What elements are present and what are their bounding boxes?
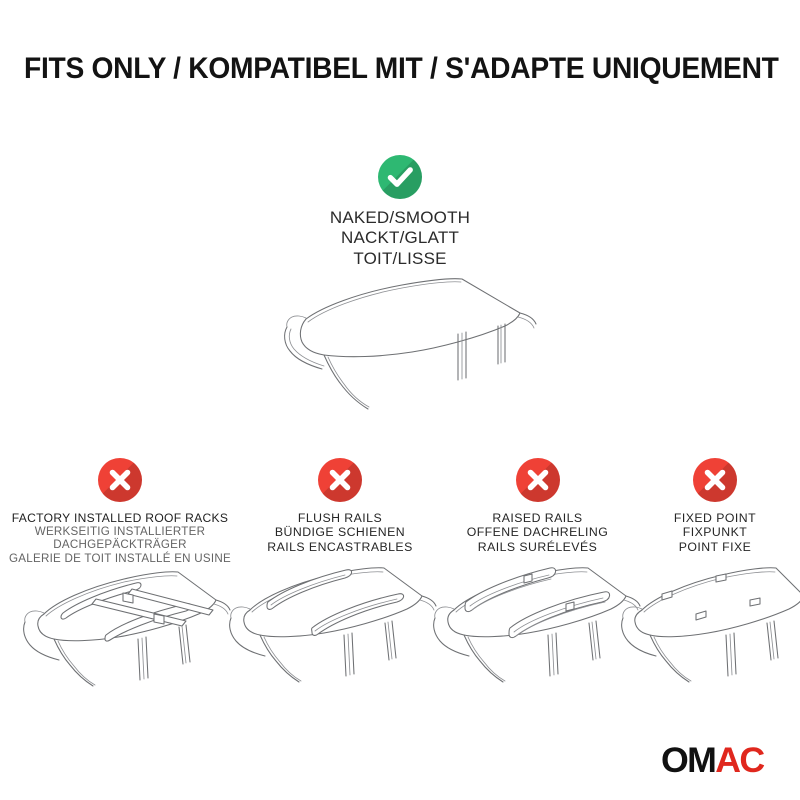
omac-logo: OMAC xyxy=(661,743,764,778)
infographic-canvas: FITS ONLY / KOMPATIBEL MIT / S'ADAPTE UN… xyxy=(0,0,800,800)
cross-badge xyxy=(318,458,362,502)
car-roof-naked-smooth-illustration xyxy=(262,272,562,417)
label-line-2: FIXPUNKT xyxy=(630,525,800,539)
label-line-3: DACHGEPÄCKTRÄGER xyxy=(0,538,240,551)
cross-badge xyxy=(516,458,560,502)
option-flush-rails: FLUSH RAILS BÜNDIGE SCHIENEN RAILS ENCAS… xyxy=(240,458,440,554)
check-icon xyxy=(378,155,422,199)
car-roof-flush-rails-illustration xyxy=(216,552,436,692)
cross-icon xyxy=(318,458,362,502)
label-line-1: FACTORY INSTALLED ROOF RACKS xyxy=(0,511,240,525)
option-labels: FLUSH RAILS BÜNDIGE SCHIENEN RAILS ENCAS… xyxy=(240,511,440,554)
car-roof-raised-rails-illustration xyxy=(418,548,638,693)
option-labels: NAKED/SMOOTH NACKT/GLATT TOIT/LISSE xyxy=(260,208,540,269)
label-line-2: OFFENE DACHRELING xyxy=(435,525,640,539)
label-line-2: NACKT/GLATT xyxy=(260,228,540,248)
check-badge xyxy=(378,155,422,199)
cross-badge xyxy=(98,458,142,502)
cross-badge xyxy=(693,458,737,502)
logo-text-om: OM xyxy=(661,741,715,780)
option-fixed-point: FIXED POINT FIXPUNKT POINT FIXE xyxy=(630,458,800,554)
car-roof-fixed-point-illustration xyxy=(612,548,800,693)
label-line-2: BÜNDIGE SCHIENEN xyxy=(240,525,440,539)
label-line-1: RAISED RAILS xyxy=(435,511,640,525)
label-line-1: FLUSH RAILS xyxy=(240,511,440,525)
page-title: FITS ONLY / KOMPATIBEL MIT / S'ADAPTE UN… xyxy=(24,52,776,86)
car-roof-factory-rack-illustration xyxy=(6,552,236,692)
cross-icon xyxy=(516,458,560,502)
cross-icon xyxy=(693,458,737,502)
option-raised-rails: RAISED RAILS OFFENE DACHRELING RAILS SUR… xyxy=(435,458,640,554)
cross-icon xyxy=(98,458,142,502)
label-line-1: FIXED POINT xyxy=(630,511,800,525)
label-line-2: WERKSEITIG INSTALLIERTER xyxy=(0,525,240,538)
label-line-1: NAKED/SMOOTH xyxy=(260,208,540,228)
option-naked-smooth: NAKED/SMOOTH NACKT/GLATT TOIT/LISSE xyxy=(260,155,540,269)
label-line-3: TOIT/LISSE xyxy=(260,249,540,269)
option-factory-roof-racks: FACTORY INSTALLED ROOF RACKS WERKSEITIG … xyxy=(0,458,240,565)
logo-text-ac: AC xyxy=(716,741,764,780)
